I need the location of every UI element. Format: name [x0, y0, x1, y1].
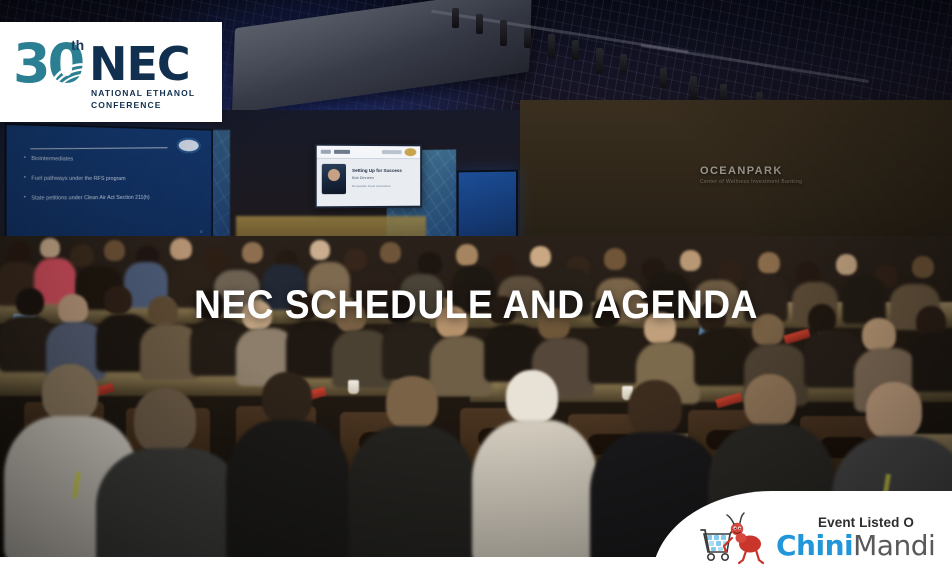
page-root: OCEANPARK Center of Wellness Investment … [0, 0, 952, 579]
slide-bullet: Fuel pathways under the RFS program [24, 177, 211, 183]
logo-tagline-line2: CONFERENCE [91, 100, 162, 110]
speaker-screen-body: Setting Up for Success Bob Dinneen Renew… [317, 159, 420, 199]
speaker-affiliation: Renewable Fuels Association [352, 184, 415, 189]
speaker-screen-header [317, 146, 420, 160]
slide-agency-seal-icon [177, 137, 201, 153]
speaker-name: Bob Dinneen [352, 176, 415, 180]
venue-sign-subtitle: Center of Wellness Investment Banking [700, 179, 802, 185]
chinimandi-wordmark: ChiniMandi [776, 532, 935, 560]
logo-anniversary-ordinal: th [71, 37, 84, 53]
slide-bullet: Biointermediates [24, 157, 211, 165]
wordmark-mandi: Mandi [853, 529, 935, 562]
slide-bullet-list: Biointermediates Fuel pathways under the… [24, 157, 211, 203]
session-title: Setting Up for Success [352, 168, 415, 173]
right-stage-monitor [457, 170, 518, 245]
speaker-meta: Setting Up for Success Bob Dinneen Renew… [352, 164, 415, 194]
slide-page-number: 5 [200, 229, 202, 234]
venue-sign-name: OCEANPARK [700, 165, 783, 177]
slide-title-rule [30, 147, 167, 149]
slide-bullet: State petitions under Clean Air Act Sect… [24, 195, 211, 202]
logo-tagline: NATIONAL ETHANOL CONFERENCE [91, 87, 195, 112]
speaker-headshot [322, 164, 346, 194]
wordmark-chini: Chini [776, 529, 853, 562]
venue-sign: OCEANPARK Center of Wellness Investment … [700, 165, 802, 185]
sponsor-seal-icon [405, 148, 417, 156]
badge-eyebrow-text: Event Listed O [818, 515, 935, 530]
ant-pushing-sugar-cart-icon [696, 508, 768, 566]
left-projection-screen: Biointermediates Fuel pathways under the… [4, 123, 213, 247]
page-title: NEC SCHEDULE AND AGENDA [33, 283, 918, 328]
nec-logo: 30 th NEC NATIONAL ETHANOL CONFERENCE [0, 22, 222, 122]
logo-acronym: NEC [89, 41, 190, 87]
center-speaker-screen: Setting Up for Success Bob Dinneen Renew… [315, 144, 422, 209]
logo-tagline-line1: NATIONAL ETHANOL [91, 88, 195, 98]
